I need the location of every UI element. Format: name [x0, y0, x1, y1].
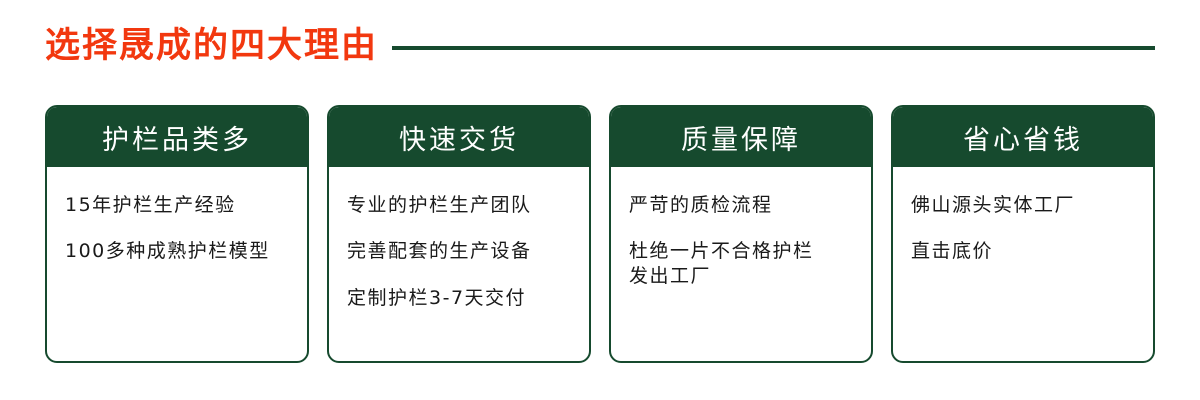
advantage-card-4: 省心省钱 佛山源头实体工厂 直击底价 — [891, 105, 1155, 363]
advantage-card-1: 护栏品类多 15年护栏生产经验 100多种成熟护栏模型 — [45, 105, 309, 363]
advantage-card-1-line-2: 100多种成熟护栏模型 — [65, 239, 289, 263]
advantage-card-3: 质量保障 严苛的质检流程 杜绝一片不合格护栏 发出工厂 — [609, 105, 873, 363]
advantage-card-3-line-2: 杜绝一片不合格护栏 发出工厂 — [629, 239, 853, 288]
advantage-card-1-body: 15年护栏生产经验 100多种成熟护栏模型 — [47, 167, 307, 361]
advantage-card-4-body: 佛山源头实体工厂 直击底价 — [893, 167, 1153, 361]
advantage-card-3-line-1: 严苛的质检流程 — [629, 193, 853, 217]
heading-divider-line — [392, 46, 1155, 50]
advantages-section: 选择晟成的四大理由 护栏品类多 15年护栏生产经验 100多种成熟护栏模型 快速… — [0, 0, 1200, 400]
page-title: 选择晟成的四大理由 — [45, 29, 378, 64]
advantage-card-3-body: 严苛的质检流程 杜绝一片不合格护栏 发出工厂 — [611, 167, 871, 361]
advantage-card-4-line-1: 佛山源头实体工厂 — [911, 193, 1135, 217]
advantage-card-2-line-2: 完善配套的生产设备 — [347, 239, 571, 263]
advantage-card-2-line-3: 定制护栏3-7天交付 — [347, 286, 571, 310]
advantage-card-2-line-1: 专业的护栏生产团队 — [347, 193, 571, 217]
advantage-card-4-line-2: 直击底价 — [911, 239, 1135, 263]
advantage-card-1-title: 护栏品类多 — [47, 107, 307, 167]
section-heading: 选择晟成的四大理由 — [45, 18, 1155, 74]
advantage-card-4-title: 省心省钱 — [893, 107, 1153, 167]
advantage-card-3-title: 质量保障 — [611, 107, 871, 167]
advantage-card-2-title: 快速交货 — [329, 107, 589, 167]
advantage-card-2: 快速交货 专业的护栏生产团队 完善配套的生产设备 定制护栏3-7天交付 — [327, 105, 591, 363]
advantage-card-1-line-1: 15年护栏生产经验 — [65, 193, 289, 217]
advantage-card-list: 护栏品类多 15年护栏生产经验 100多种成熟护栏模型 快速交货 专业的护栏生产… — [45, 105, 1155, 363]
advantage-card-2-body: 专业的护栏生产团队 完善配套的生产设备 定制护栏3-7天交付 — [329, 167, 589, 361]
